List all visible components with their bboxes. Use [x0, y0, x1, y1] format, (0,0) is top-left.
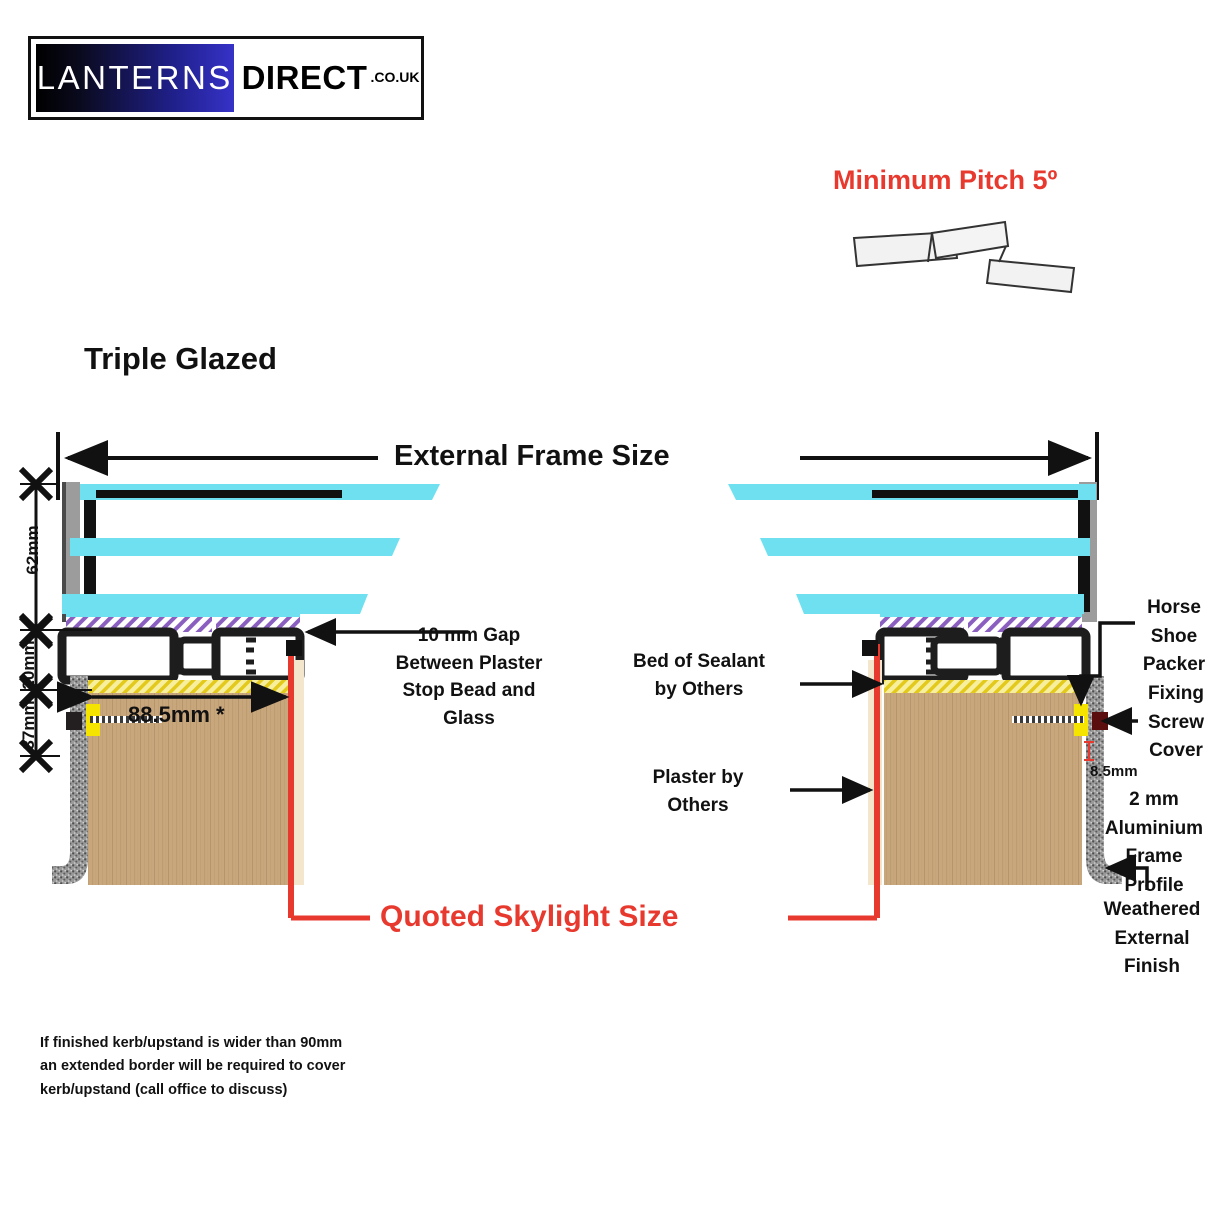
dimension-finish-thickness: 8.5mm: [1090, 763, 1138, 780]
kerb-width-note: If finished kerb/upstand is wider than 9…: [40, 1032, 440, 1102]
callout-horseshoe-packer: Horse Shoe Packer: [1134, 594, 1214, 680]
glass-pane-inner: [62, 594, 368, 614]
aluminium-frame-profile-right: [880, 632, 1086, 680]
minimum-pitch-title: Minimum Pitch 5º: [833, 165, 1057, 196]
brand-name-lanterns: LANTERNS: [37, 59, 233, 97]
external-frame-size-label: External Frame Size: [394, 440, 670, 473]
callout-fixing-screw-cover: Fixing Screw Cover: [1138, 680, 1214, 766]
callout-gap: 10 mm Gap Between Plaster Stop Bead and …: [374, 622, 564, 732]
glass-pane-middle-right: [760, 538, 1090, 556]
brand-logo[interactable]: LANTERNS DIRECT .CO.UK: [28, 36, 424, 120]
aluminium-frame-profile-left: [62, 632, 300, 680]
glass-pane-middle: [70, 538, 400, 556]
brand-logo-left: LANTERNS: [36, 44, 234, 112]
dimension-kerb-width: 88.5mm *: [128, 702, 225, 728]
fixing-screw-cover-left: [66, 712, 82, 730]
dimension-frame-height: 20mm: [19, 635, 39, 695]
callout-weathered-finish: Weathered External Finish: [1094, 896, 1210, 982]
quoted-skylight-size-label: Quoted Skylight Size: [380, 900, 678, 934]
glazing-type-title: Triple Glazed: [84, 341, 277, 377]
glass-pane-inner-right: [796, 594, 1084, 614]
callout-plaster-by-others: Plaster by Others: [608, 764, 788, 819]
dimension-glass-height: 62mm: [23, 520, 43, 580]
brand-logo-right: DIRECT .CO.UK: [234, 44, 420, 112]
weathered-finish-left: [52, 676, 88, 884]
brand-name-direct: DIRECT: [242, 59, 368, 97]
dimension-kerb-height: 37mm: [19, 695, 39, 755]
brand-tld: .CO.UK: [370, 69, 419, 87]
callout-frame-profile: 2 mm Aluminium Frame Profile: [1094, 786, 1214, 900]
minimum-pitch-sketch: [854, 222, 1074, 292]
callout-bed-of-sealant: Bed of Sealant by Others: [596, 648, 802, 703]
